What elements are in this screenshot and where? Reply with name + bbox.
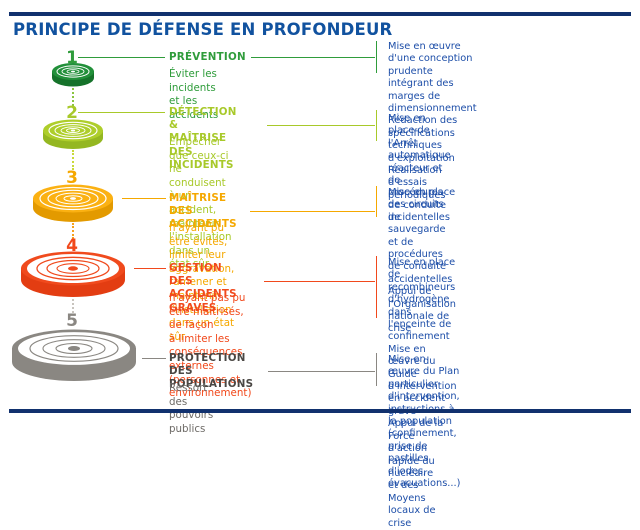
level-4-lead-line-right xyxy=(264,281,375,282)
level-4-right-bar xyxy=(376,256,377,318)
level-5-lead-line-right xyxy=(268,371,375,372)
level-5-lead-line-left xyxy=(142,358,166,359)
level-3-disc-icon xyxy=(26,183,120,223)
level-2-right-bar xyxy=(376,110,377,141)
top-rule xyxy=(9,12,631,16)
level-2-disc-icon xyxy=(37,118,109,150)
level-5-disc-icon xyxy=(6,328,142,384)
level-1-heading: PRÉVENTION xyxy=(169,51,246,64)
level-5-measures: Mise en œuvre du Plan particulier d'inte… xyxy=(388,354,460,490)
defense-in-depth-infographic: PRINCIPE DE DÉFENSE EN PROFONDEUR 1 PRÉV… xyxy=(0,0,640,426)
level-2-lead-line-left xyxy=(78,112,165,113)
level-4-lead-line-left xyxy=(134,268,166,269)
level-3-lead-line-left xyxy=(122,198,166,199)
level-2-lead-line-right xyxy=(267,125,375,126)
bottom-rule xyxy=(9,409,631,413)
level-1-right-bar xyxy=(376,41,377,73)
level-4-disc-icon xyxy=(14,250,132,298)
level-3-right-bar xyxy=(376,186,377,217)
level-1-lead-line-left xyxy=(78,57,165,58)
level-3-lead-line-right xyxy=(250,211,375,212)
level-2-connector-dots xyxy=(72,150,74,170)
level-1-lead-line-right xyxy=(251,57,375,58)
level-1-disc-icon xyxy=(46,62,100,88)
page-title: PRINCIPE DE DÉFENSE EN PROFONDEUR xyxy=(13,20,392,39)
level-5-right-bar xyxy=(376,353,377,386)
